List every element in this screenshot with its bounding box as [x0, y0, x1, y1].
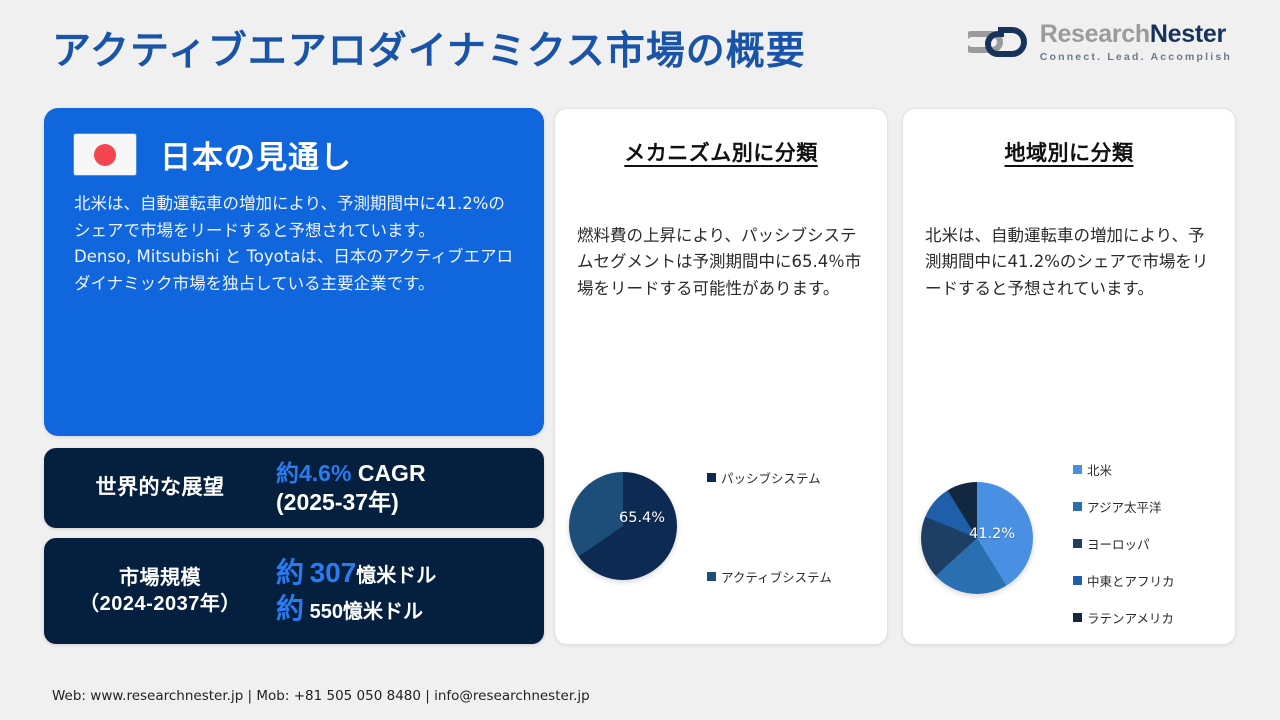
japan-outlook-card: 日本の見通し 北米は、自動運転車の増加により、予測期間中に41.2%のシェアで市…: [44, 108, 544, 436]
mechanism-pie-chart: [569, 472, 677, 580]
legend-label: アクティブシステム: [721, 567, 832, 586]
market-size-label-line1: 市場規模: [119, 567, 201, 589]
cagr-period: (2025-37年): [276, 488, 544, 517]
logo-word-research: Research: [1040, 20, 1150, 48]
logo-tagline: Connect. Lead. Accomplish: [1040, 52, 1232, 63]
legend-swatch-icon: [1073, 465, 1082, 474]
slide-root: アクティブエアロダイナミクス市場の概要 ResearchNester Conne…: [0, 0, 1280, 720]
mechanism-card-body: 燃料費の上昇により、パッシブシステムセグメントは予測期間中に65.4％市場をリー…: [577, 223, 865, 302]
region-chart: 41.2% 北米 アジア太平洋 ヨーロッパ 中東とアフリカ: [903, 460, 1237, 620]
legend-label: アジア太平洋: [1087, 497, 1162, 516]
mechanism-card-title: メカニズム別に分類: [555, 137, 887, 167]
legend-swatch-icon: [1073, 613, 1082, 622]
market-size-2037-number: 550: [310, 601, 343, 623]
market-size-2024-unit: 憶米ドル: [356, 565, 436, 587]
legend-swatch-icon: [707, 473, 716, 482]
legend-item: パッシブシステム: [707, 468, 882, 487]
market-size-label-line2: （2024-2037年）: [79, 593, 241, 615]
legend-item: ラテンアメリカ: [1073, 608, 1238, 627]
legend-label: 北米: [1087, 460, 1112, 479]
logo-name: ResearchNester: [1040, 22, 1232, 47]
legend-label: ラテンアメリカ: [1087, 608, 1174, 627]
mechanism-segment-card: メカニズム別に分類 燃料費の上昇により、パッシブシステムセグメントは予測期間中に…: [554, 108, 888, 645]
legend-swatch-icon: [1073, 502, 1082, 511]
market-size-2024-number: 307: [310, 557, 357, 588]
market-size-label: 市場規模 （2024-2037年）: [44, 565, 276, 617]
logo-text: ResearchNester Connect. Lead. Accomplish: [1040, 22, 1232, 63]
legend-item: 中東とアフリカ: [1073, 571, 1238, 590]
brand-logo: ResearchNester Connect. Lead. Accomplish: [968, 22, 1232, 63]
mechanism-pie-data-label: 65.4%: [619, 510, 665, 526]
region-card-title: 地域別に分類: [903, 137, 1235, 167]
market-size-stat-box: 市場規模 （2024-2037年） 約 307憶米ドル 約 550憶米ドル: [44, 538, 544, 644]
legend-label: ヨーロッパ: [1087, 534, 1150, 553]
legend-swatch-icon: [1073, 576, 1082, 585]
market-size-value: 約 307憶米ドル 約 550憶米ドル: [276, 555, 544, 627]
region-segment-card: 地域別に分類 北米は、自動運転車の増加により、予測期間中に41.2%のシェアで市…: [902, 108, 1236, 645]
region-pie-data-label: 41.2%: [969, 526, 1015, 542]
legend-item: アクティブシステム: [707, 567, 882, 586]
mechanism-pie-legend: パッシブシステム アクティブシステム: [707, 468, 882, 586]
japan-card-body: 北米は、自動運転車の増加により、予測期間中に41.2%のシェアで市場をリードする…: [74, 191, 514, 298]
region-pie-legend: 北米 アジア太平洋 ヨーロッパ 中東とアフリカ ラテンアメリカ: [1073, 460, 1238, 645]
global-outlook-label: 世界的な展望: [44, 474, 276, 501]
legend-item: 北米: [1073, 460, 1238, 479]
japan-card-header: 日本の見通し: [74, 132, 514, 177]
cagr-unit: CAGR: [351, 460, 425, 486]
legend-item: アジア太平洋: [1073, 497, 1238, 516]
legend-label: パッシブシステム: [721, 468, 821, 487]
japan-card-title: 日本の見通し: [160, 132, 352, 177]
market-size-2037-approx: 約: [276, 593, 304, 624]
legend-swatch-icon: [1073, 539, 1082, 548]
japan-flag-icon: [74, 134, 136, 175]
page-title: アクティブエアロダイナミクス市場の概要: [52, 20, 806, 76]
region-card-body: 北米は、自動運転車の増加により、予測期間中に41.2%のシェアで市場をリードする…: [925, 223, 1213, 302]
global-outlook-value: 約4.6% CAGR (2025-37年): [276, 459, 544, 518]
mechanism-chart: 65.4% パッシブシステム アクティブシステム: [555, 460, 889, 620]
legend-item: ヨーロッパ: [1073, 534, 1238, 553]
market-size-2024-approx: 約: [276, 557, 304, 588]
japan-flag-sun: [94, 144, 116, 166]
global-outlook-stat-box: 世界的な展望 約4.6% CAGR (2025-37年): [44, 448, 544, 528]
legend-label: 中東とアフリカ: [1087, 571, 1175, 590]
logo-word-nester: Nester: [1150, 20, 1226, 48]
legend-swatch-icon: [707, 572, 716, 581]
footer-contact: Web: www.researchnester.jp | Mob: +81 50…: [52, 688, 590, 704]
cagr-approx: 約4.6%: [276, 460, 351, 486]
market-size-2037-unit: 憶米ドル: [343, 601, 423, 623]
header: アクティブエアロダイナミクス市場の概要 ResearchNester Conne…: [0, 0, 1280, 90]
logo-mark-icon: [968, 24, 1030, 60]
